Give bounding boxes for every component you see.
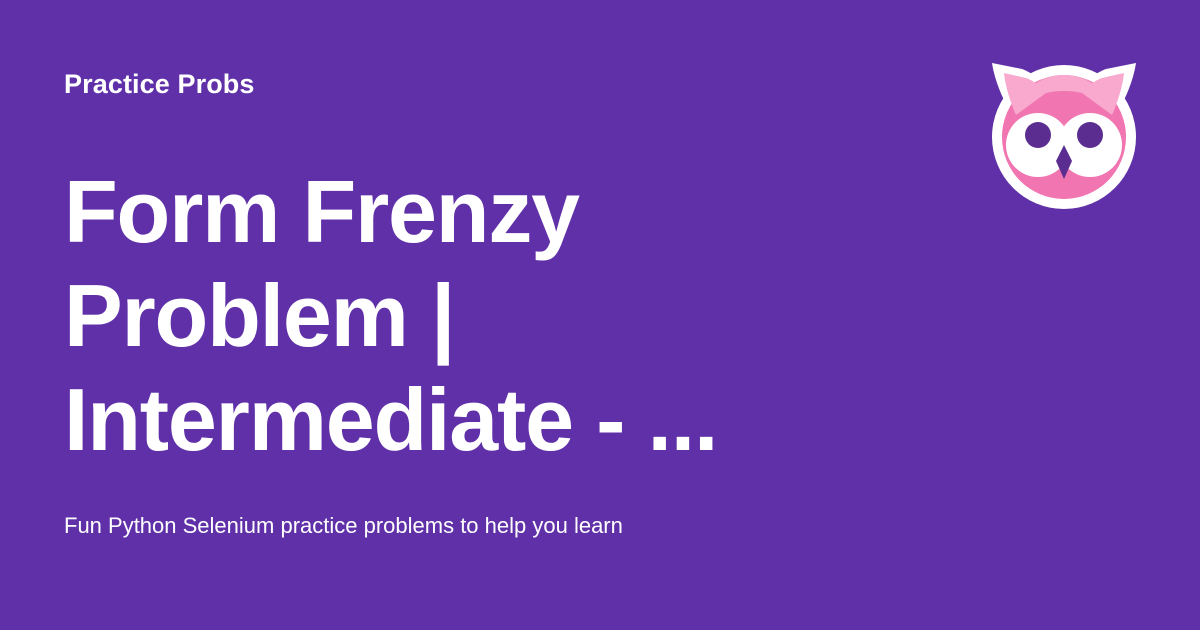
owl-logo — [988, 57, 1140, 209]
page-title: Form Frenzy Problem | Intermediate - ... — [64, 160, 764, 472]
page-description: Fun Python Selenium practice problems to… — [64, 510, 884, 542]
site-name: Practice Probs — [64, 66, 255, 102]
open-graph-card: Practice Probs Form Frenzy Problem | Int… — [0, 0, 1200, 630]
owl-pupil-left — [1025, 122, 1051, 148]
owl-pupil-right — [1077, 122, 1103, 148]
owl-icon — [988, 57, 1140, 209]
